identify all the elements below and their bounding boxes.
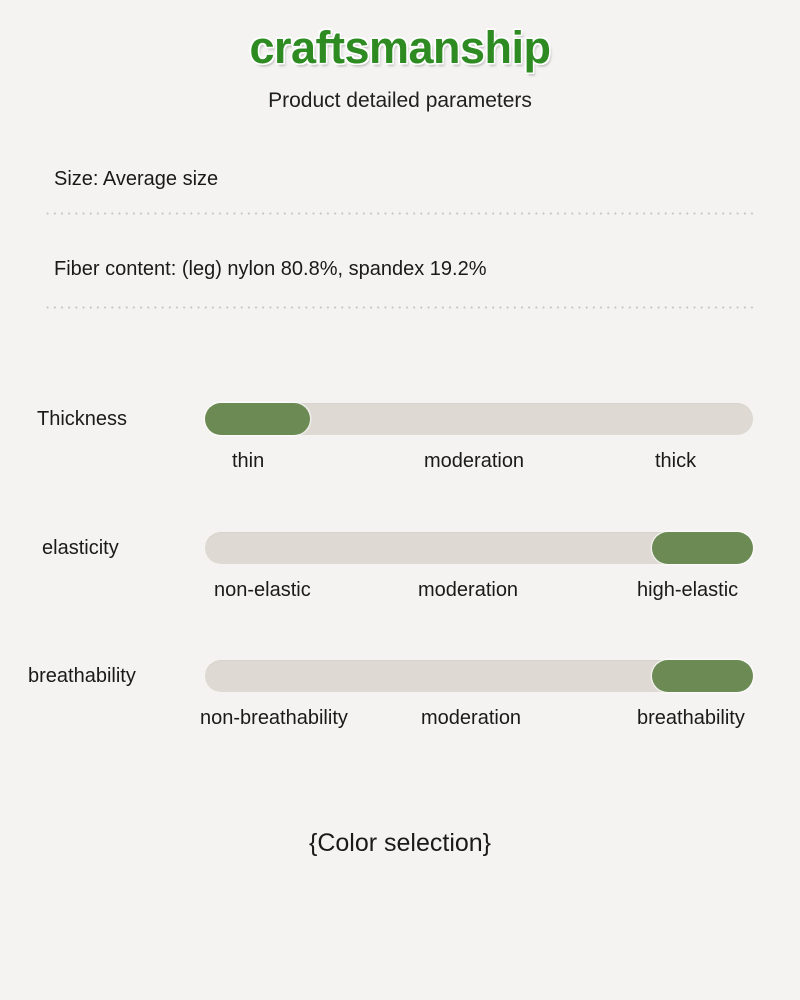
slider-scale-breathability: non-breathability moderation breathabili… (0, 707, 800, 733)
slider-label-thickness: Thickness (37, 408, 127, 431)
slider-thumb-elasticity[interactable] (652, 532, 753, 564)
scale-label-low: non-elastic (214, 579, 311, 602)
divider-dotted-2 (44, 306, 756, 309)
page-title: craftsmanship (0, 22, 800, 74)
scale-label-mid: moderation (418, 579, 518, 602)
slider-thumb-breathability[interactable] (652, 660, 753, 692)
slider-track-elasticity[interactable] (205, 532, 753, 564)
slider-track-breathability[interactable] (205, 660, 753, 692)
slider-label-breathability: breathability (28, 665, 136, 688)
scale-label-low: non-breathability (200, 707, 348, 730)
slider-row-elasticity: elasticity non-elastic moderation high-e… (0, 527, 800, 617)
slider-scale-elasticity: non-elastic moderation high-elastic (0, 579, 800, 605)
scale-label-high: thick (655, 450, 696, 473)
scale-label-mid: moderation (421, 707, 521, 730)
scale-label-mid: moderation (424, 450, 524, 473)
slider-scale-thickness: thin moderation thick (0, 450, 800, 476)
slider-row-thickness: Thickness thin moderation thick (0, 398, 800, 488)
scale-label-low: thin (232, 450, 264, 473)
scale-label-high: high-elastic (637, 579, 738, 602)
slider-row-breathability: breathability non-breathability moderati… (0, 655, 800, 745)
product-parameters-page: craftsmanship Product detailed parameter… (0, 0, 800, 1000)
slider-thumb-thickness[interactable] (205, 403, 310, 435)
divider-dotted-1 (44, 212, 756, 215)
scale-label-high: breathability (637, 707, 745, 730)
color-selection-heading: {Color selection} (0, 829, 800, 858)
slider-track-thickness[interactable] (205, 403, 753, 435)
slider-label-elasticity: elasticity (42, 537, 119, 560)
page-subtitle: Product detailed parameters (0, 89, 800, 113)
spec-fiber-content: Fiber content: (leg) nylon 80.8%, spande… (54, 258, 486, 281)
spec-size: Size: Average size (54, 168, 218, 191)
